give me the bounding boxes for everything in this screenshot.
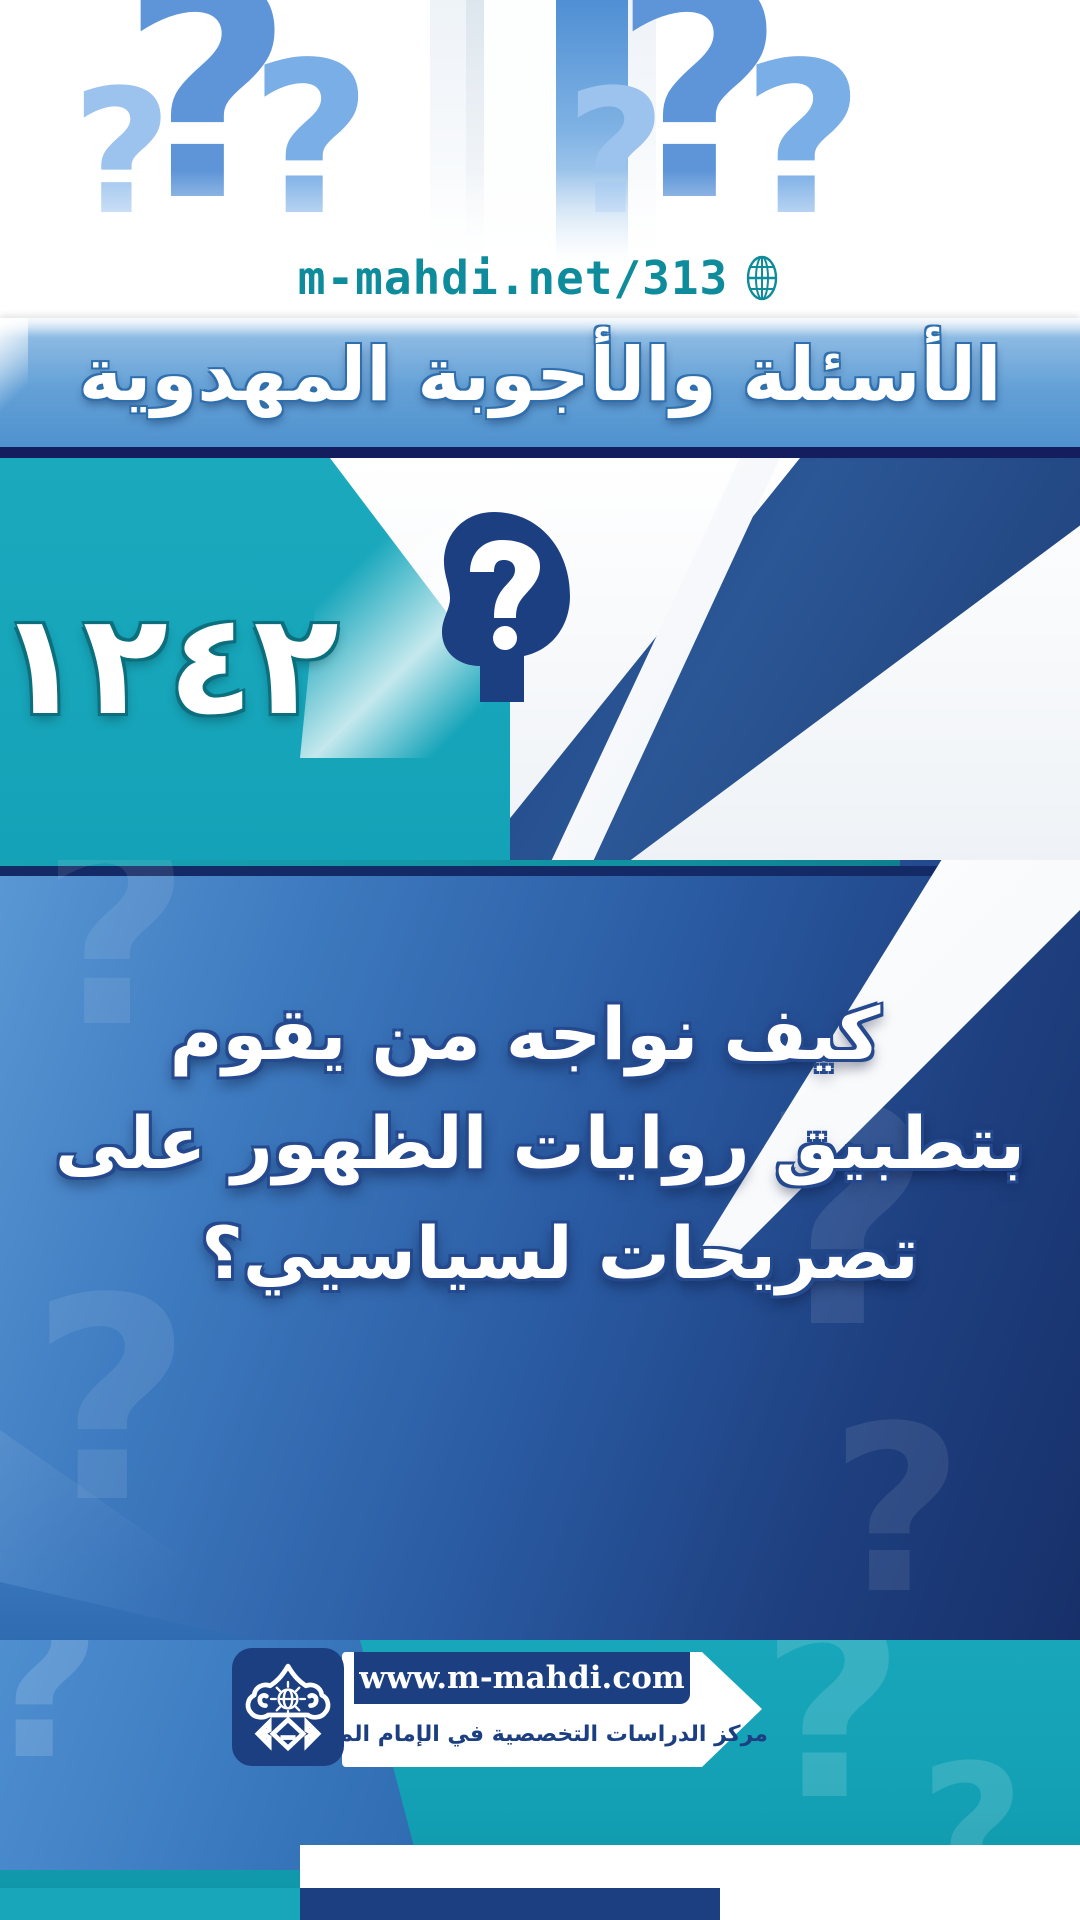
footer-website-bar[interactable]: www.m-mahdi.com — [354, 1652, 690, 1704]
question-text-block: كيف نواجه من يقوم بتطبيق روايات الظهور ع… — [40, 980, 1040, 1308]
series-title-text: الأسئلة والأجوبة المهدوية — [0, 332, 1080, 418]
site-url-row[interactable]: m-mahdi.net/313 — [0, 247, 1080, 309]
question-line-2: بتطبيق روايات الظهور على — [40, 1089, 1040, 1198]
question-number-text: ١٢٤٢ — [0, 584, 339, 747]
footer-teal-bottom — [0, 1888, 300, 1920]
face-question-mark-icon — [420, 506, 580, 706]
footer-center-name: مركز الدراسات التخصصية في الإمام المهدي — [350, 1704, 710, 1764]
footer-website-text[interactable]: www.m-mahdi.com — [359, 1660, 684, 1696]
decor-question-mark-icon: ? — [0, 1640, 102, 1768]
site-url-text[interactable]: m-mahdi.net/313 — [298, 251, 728, 305]
footer-brand-plate[interactable]: www.m-mahdi.com مركز الدراسات التخصصية ف… — [342, 1652, 762, 1767]
globe-icon — [742, 255, 782, 301]
question-line-3: تصريحات لسياسيي؟ — [40, 1199, 1040, 1308]
decor-question-mark-icon: ? — [830, 1420, 963, 1604]
question-number-badge: ١٢٤٢ — [18, 580, 318, 750]
mahdi-center-logo-icon — [241, 1657, 335, 1757]
question-panel: ? ? ? ? كيف نواجه من يقوم بتطبيق روايات … — [0, 860, 1080, 1640]
mid-band: ١٢٤٢ — [0, 458, 1080, 868]
question-line-1: كيف نواجه من يقوم — [40, 980, 1040, 1089]
poster-root: ? ? ? ? ? ? m-mahdi.net/313 الأسئلة والأ… — [0, 0, 1080, 1920]
series-title-banner: الأسئلة والأجوبة المهدوية — [0, 318, 1080, 458]
decor-question-mark-icon: ? — [760, 1640, 905, 1810]
decor-question-mark-icon: ? — [30, 1290, 192, 1514]
footer-logo-tile[interactable] — [232, 1648, 344, 1766]
footer-blue-bottom — [300, 1888, 720, 1920]
decor-question-mark-icon: ? — [920, 1760, 1024, 1904]
